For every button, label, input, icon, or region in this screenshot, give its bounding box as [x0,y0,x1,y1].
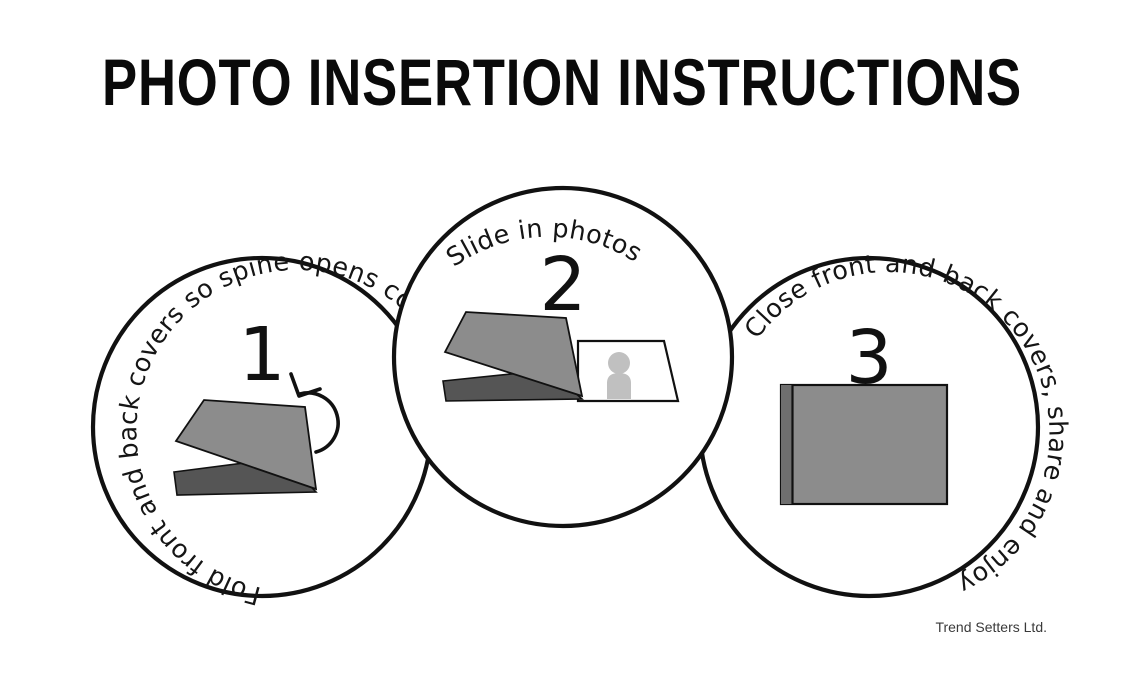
closed-book-illustration [781,385,947,504]
open-book-illustration [443,312,582,401]
step-2-number: 2 [539,242,586,328]
book-front-cover [781,385,947,504]
book-spine [781,385,792,504]
footer-credit: Trend Setters Ltd. [935,619,1047,635]
step-3-group: Close front and back covers, share and e… [700,249,1073,600]
folded-book-illustration [174,400,316,495]
photo-illustration [578,341,678,401]
person-body [607,373,631,399]
step-2-group: Slide in photos 2 [394,188,732,526]
poster-canvas: PHOTO INSERTION INSTRUCTIONS Close front… [0,0,1125,675]
instruction-poster: PHOTO INSERTION INSTRUCTIONS Close front… [0,0,1125,675]
person-head [608,352,630,374]
page-title: PHOTO INSERTION INSTRUCTIONS [102,45,1022,119]
person-silhouette-icon [607,352,631,399]
step-1-number: 1 [238,312,285,398]
